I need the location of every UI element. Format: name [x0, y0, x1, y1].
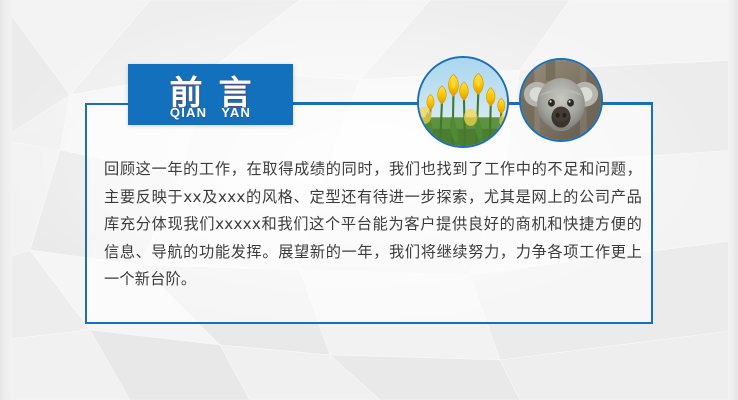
photo-koala: [519, 58, 603, 142]
section-title-badge: 前言 QIANYAN: [128, 64, 293, 125]
slide-canvas: 前言 QIANYAN: [0, 0, 738, 400]
title-pinyin-right: YAN: [221, 105, 251, 120]
left-edge-shadow: [0, 0, 12, 400]
title-pinyin: QIANYAN: [128, 105, 293, 120]
right-edge-shadow: [728, 0, 738, 400]
body-paragraph: 回顾这一年的工作，在取得成绩的同时，我们也找到了工作中的不足和问题，主要反映于x…: [104, 156, 642, 294]
photo-yellow-tulips: [417, 56, 509, 148]
tulips-illustration: [419, 58, 507, 146]
koala-illustration: [521, 60, 601, 140]
title-pinyin-left: QIAN: [170, 105, 207, 120]
